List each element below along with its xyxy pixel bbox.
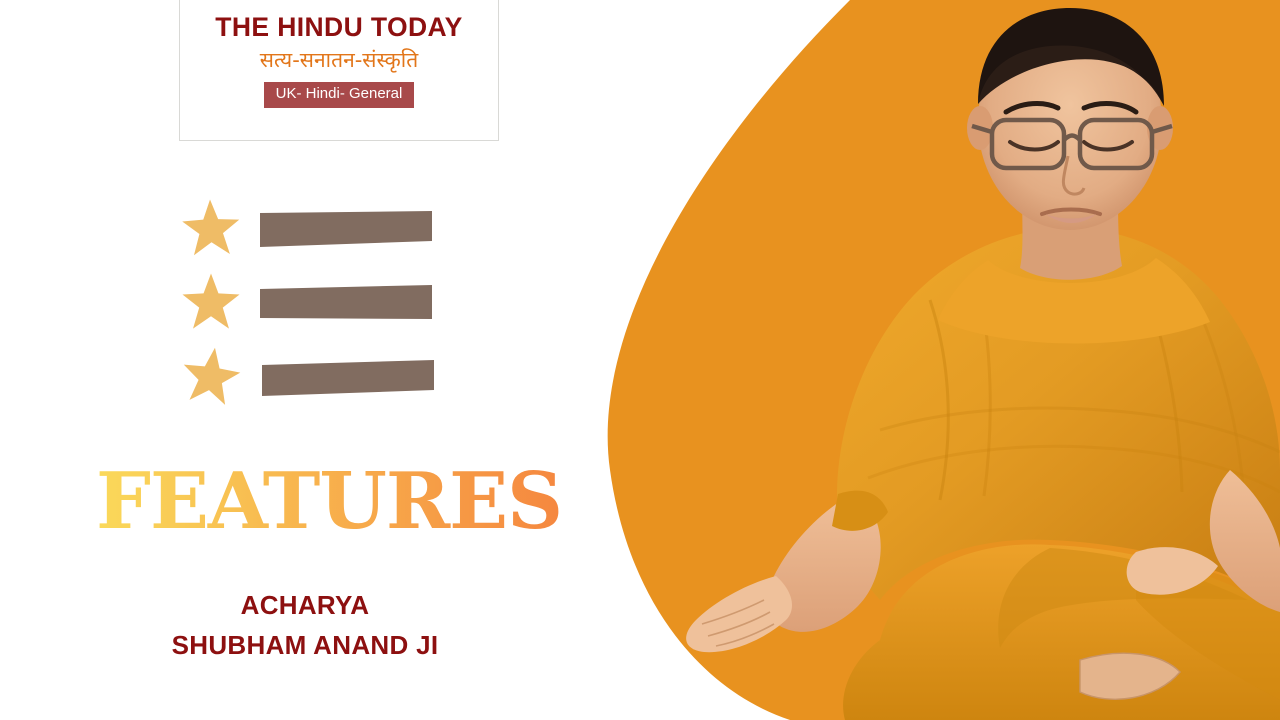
star-icon [179, 196, 243, 260]
feature-placeholder-list [180, 197, 440, 419]
brand-logo-card: THE HINDU TODAY सत्य-सनातन-संस्कृति UK- … [179, 0, 499, 141]
list-item [180, 345, 440, 419]
star-icon [176, 341, 246, 411]
brand-subtitle-hindi: सत्य-सनातन-संस्कृति [260, 48, 418, 73]
placeholder-bar [262, 360, 434, 396]
list-item [180, 197, 440, 271]
presenter-name-line2: SHUBHAM ANAND JI [0, 625, 610, 665]
hero-image-panel [580, 0, 1280, 720]
presenter-name-line1: ACHARYA [0, 585, 610, 625]
brand-category-badge: UK- Hindi- General [264, 82, 415, 108]
presenter-name: ACHARYA SHUBHAM ANAND JI [0, 585, 610, 666]
meditating-monk-photo [580, 0, 1280, 720]
placeholder-bar [260, 211, 432, 247]
star-icon [180, 271, 242, 333]
page-title: FEATURES [96, 462, 566, 540]
placeholder-bar [260, 285, 432, 321]
list-item [180, 271, 440, 345]
features-wordmark: FEATURES [96, 462, 562, 540]
brand-title: THE HINDU TODAY [215, 14, 462, 42]
